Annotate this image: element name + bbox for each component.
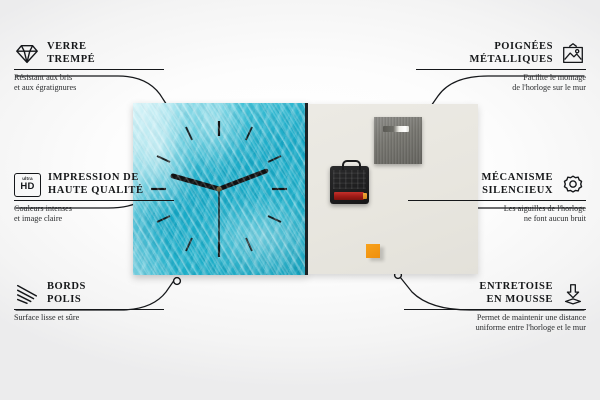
callout-rule — [408, 200, 586, 201]
callout-rule — [404, 309, 586, 310]
callout-subtitle: Permet de maintenir une distance uniform… — [404, 313, 586, 333]
mechanism-hanger-loop — [342, 160, 361, 170]
callout-mecanisme-silencieux: MÉCANISME SILENCIEUX Les aiguilles de l'… — [408, 172, 586, 225]
callout-entretoise-en-mousse: ENTRETOISE EN MOUSSE Permet de maintenir… — [404, 281, 586, 334]
gear-icon — [560, 173, 586, 197]
callout-subtitle: Surface lisse et sûre — [14, 313, 164, 323]
mechanism-texture — [333, 170, 366, 189]
callout-subtitle: Facilite le montage de l'horloge sur le … — [416, 73, 586, 93]
callout-rule — [416, 69, 586, 70]
callout-bords-polis: BORDS POLIS Surface lisse et sûre — [14, 281, 164, 323]
callout-rule — [14, 309, 164, 310]
callout-title: BORDS POLIS — [47, 281, 86, 306]
arrow-down-layers-icon — [560, 282, 586, 306]
callout-verre-trempe: VERRE TREMPÉ Résistant aux bris et aux é… — [14, 41, 164, 94]
hands-cap — [216, 186, 221, 191]
callout-subtitle: Couleurs intenses et image claire — [14, 204, 174, 224]
hd-main-text: HD — [20, 182, 34, 192]
diagonal-lines-icon — [14, 282, 40, 306]
infographic-canvas: VERRE TREMPÉ Résistant aux bris et aux é… — [0, 0, 600, 400]
connector-endpoint — [174, 278, 181, 285]
callout-poignees-metalliques: POIGNÉES MÉTALLIQUES Facilite le montage… — [416, 41, 586, 94]
picture-frame-hanger-icon — [560, 42, 586, 66]
clock-mechanism — [330, 166, 369, 204]
battery — [334, 192, 364, 200]
battery-terminal — [363, 193, 367, 199]
callout-title: MÉCANISME SILENCIEUX — [482, 172, 553, 197]
diamond-icon — [14, 42, 40, 66]
callout-rule — [14, 200, 174, 201]
callout-title: IMPRESSION DE HAUTE QUALITÉ — [48, 172, 144, 197]
hanger-slot — [383, 126, 409, 132]
callout-subtitle: Résistant aux bris et aux égratignures — [14, 73, 164, 93]
callout-title: POIGNÉES MÉTALLIQUES — [470, 41, 553, 66]
metal-hanger-plate — [374, 117, 422, 164]
ultra-hd-badge-icon: ultra HD — [14, 173, 41, 197]
callout-impression-haute-qualite: ultra HD IMPRESSION DE HAUTE QUALITÉ Cou… — [14, 172, 174, 225]
hour-hand — [173, 176, 219, 189]
callout-subtitle: Les aiguilles de l'horloge ne font aucun… — [408, 204, 586, 224]
minute-hand — [219, 171, 266, 189]
callout-rule — [14, 69, 164, 70]
callout-title: ENTRETOISE EN MOUSSE — [479, 281, 553, 306]
clock-hands — [173, 171, 266, 243]
callout-title: VERRE TREMPÉ — [47, 41, 95, 66]
foam-spacer — [366, 244, 380, 258]
